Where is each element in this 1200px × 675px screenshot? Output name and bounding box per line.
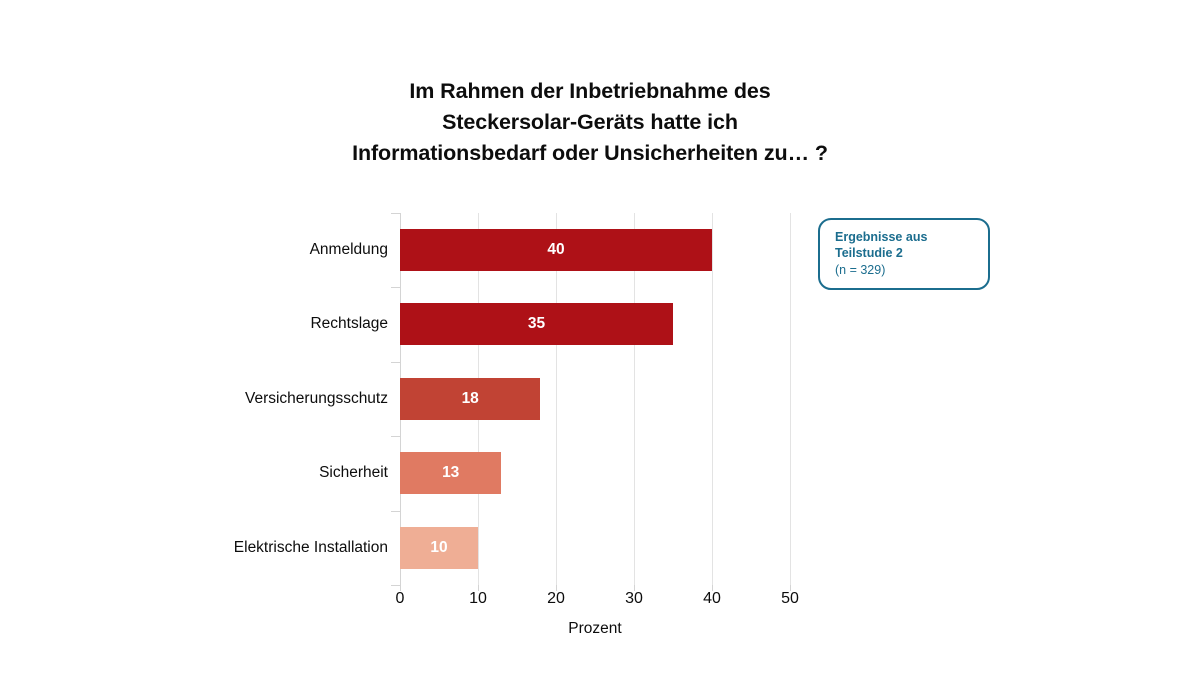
y-tick-mark-1	[391, 287, 400, 288]
bar-row: 13	[400, 436, 790, 510]
page-title: Im Rahmen der Inbetriebnahme des Stecker…	[0, 76, 1180, 169]
category-label-anmeldung: Anmeldung	[120, 213, 388, 287]
x-tick-label-40: 40	[682, 590, 742, 608]
x-tick-label-30: 30	[604, 590, 664, 608]
y-tick-mark-2	[391, 362, 400, 363]
y-tick-mark-5	[391, 585, 400, 586]
title-line-2: Steckersolar-Geräts hatte ich	[0, 107, 1180, 138]
title-line-3: Informationsbedarf oder Unsicherheiten z…	[0, 138, 1180, 169]
bar-row: 10	[400, 511, 790, 585]
annotation-box: Ergebnisse aus Teilstudie 2 (n = 329)	[818, 218, 990, 290]
bar-row: 40	[400, 213, 790, 287]
category-label-versicherungsschutz: Versicherungsschutz	[120, 362, 388, 436]
bar-anmeldung[interactable]	[400, 229, 712, 271]
y-tick-mark-4	[391, 511, 400, 512]
bar-elektrische-installation[interactable]	[400, 527, 478, 569]
y-tick-mark-0	[391, 213, 400, 214]
bars-layer: 4035181310	[400, 213, 790, 585]
x-tick-label-0: 0	[370, 590, 430, 608]
x-axis-title: Prozent	[400, 620, 790, 638]
x-tick-label-10: 10	[448, 590, 508, 608]
bar-sicherheit[interactable]	[400, 452, 501, 494]
y-tick-mark-3	[391, 436, 400, 437]
x-tick-label-20: 20	[526, 590, 586, 608]
bar-row: 35	[400, 287, 790, 361]
category-label-sicherheit: Sicherheit	[120, 436, 388, 510]
annotation-sample-size: (n = 329)	[835, 263, 885, 279]
bar-row: 18	[400, 362, 790, 436]
category-label-elektrische-installation: Elektrische Installation	[120, 511, 388, 585]
annotation-heading: Ergebnisse aus Teilstudie 2	[835, 230, 927, 261]
x-tick-label-50: 50	[760, 590, 820, 608]
category-axis-labels: AnmeldungRechtslageVersicherungsschutzSi…	[120, 213, 388, 585]
category-label-rechtslage: Rechtslage	[120, 287, 388, 361]
title-line-1: Im Rahmen der Inbetriebnahme des	[0, 76, 1180, 107]
gridline-50	[790, 213, 791, 585]
bar-versicherungsschutz[interactable]	[400, 378, 540, 420]
bar-rechtslage[interactable]	[400, 303, 673, 345]
